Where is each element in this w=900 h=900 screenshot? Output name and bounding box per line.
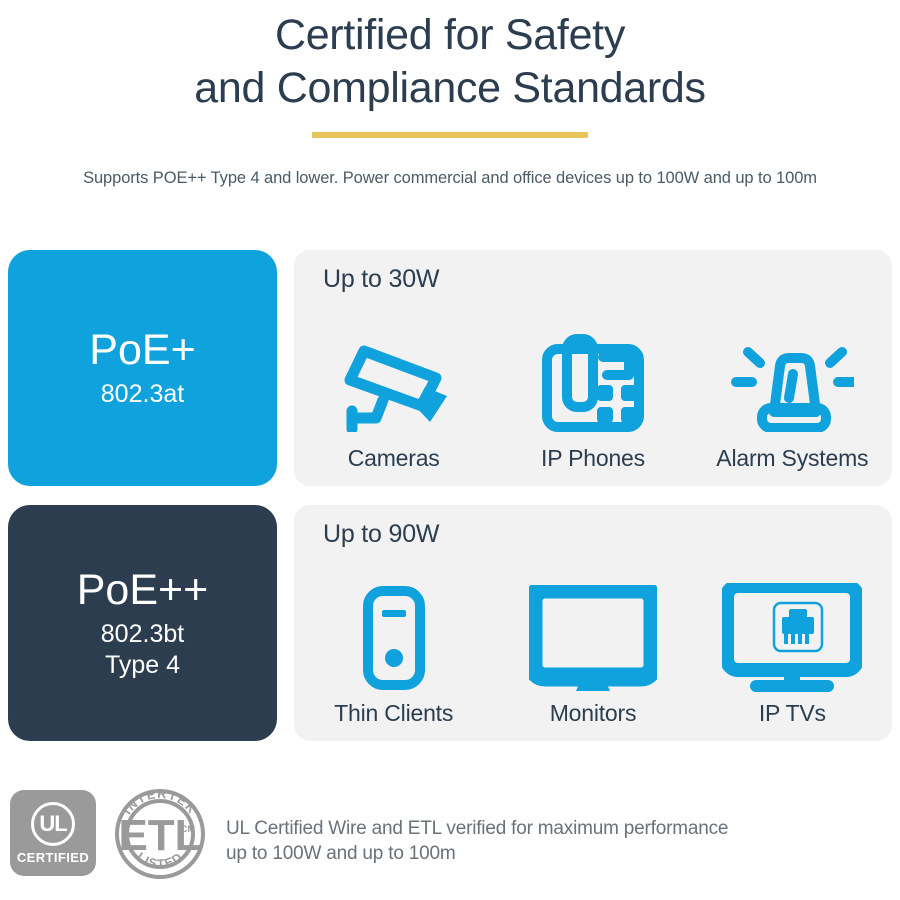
device-label: Monitors [550, 700, 637, 727]
etl-center-text: ETL [118, 811, 201, 860]
ul-mark-icon: UL [31, 802, 75, 846]
thin-client-tower-icon [362, 582, 426, 694]
device-label: Alarm Systems [716, 445, 868, 472]
device-item-ip-tvs: IP TVs [693, 536, 892, 741]
device-label: Thin Clients [334, 700, 453, 727]
device-grid: Thin Clients Monitors [294, 550, 892, 741]
tier-standard-line-1: 802.3bt [101, 619, 184, 650]
page-subtitle: Supports POE++ Type 4 and lower. Power c… [0, 169, 900, 188]
ul-caption: CERTIFIED [17, 850, 89, 865]
monitor-icon [529, 582, 657, 694]
device-grid: Cameras [294, 295, 892, 486]
devices-panel-poe-plus-plus: Up to 90W Thin Clients [294, 505, 892, 741]
etl-listed-badge: INTERTEK LISTED ETL CM [110, 784, 210, 884]
device-label: Cameras [348, 445, 440, 472]
tier-name: PoE++ [77, 566, 209, 614]
tier-standard-line-1: 802.3at [101, 379, 184, 410]
certification-footer: UL CERTIFIED INTERTEK LISTED ETL CM UL C… [10, 790, 890, 884]
device-item-thin-clients: Thin Clients [294, 536, 493, 741]
tier-standard: 802.3bt Type 4 [101, 619, 184, 681]
alarm-beacon-icon [730, 327, 854, 439]
tier-name: PoE+ [89, 326, 195, 374]
device-item-alarm-systems: Alarm Systems [693, 281, 892, 486]
ul-certified-badge: UL CERTIFIED [10, 790, 96, 876]
certification-description-line-1: UL Certified Wire and ETL verified for m… [226, 816, 728, 841]
ip-tv-icon [722, 582, 862, 694]
page-title-line-1: Certified for Safety [0, 9, 900, 62]
tier-standard: 802.3at [101, 379, 184, 410]
device-item-cameras: Cameras [294, 281, 493, 486]
ip-phone-icon [541, 327, 645, 439]
page-title: Certified for Safety and Compliance Stan… [0, 0, 900, 115]
tier-card-poe-plus: PoE+ 802.3at [8, 250, 277, 486]
tier-row-poe-plus-plus: PoE++ 802.3bt Type 4 Up to 90W Thin Clie… [8, 505, 892, 741]
security-camera-icon [336, 327, 452, 439]
rj45-plug-glyph [782, 609, 814, 644]
etl-superscript-text: CM [181, 824, 195, 834]
tier-row-poe-plus: PoE+ 802.3at Up to 30W Camer [8, 250, 892, 486]
tier-standard-line-2: Type 4 [101, 650, 184, 681]
device-label: IP Phones [541, 445, 645, 472]
device-item-monitors: Monitors [493, 536, 692, 741]
page-header: Certified for Safety and Compliance Stan… [0, 0, 900, 188]
device-item-ip-phones: IP Phones [493, 281, 692, 486]
gold-accent-divider [312, 132, 588, 138]
device-label: IP TVs [759, 700, 826, 727]
ul-mark-text: UL [39, 811, 66, 837]
devices-panel-poe-plus: Up to 30W Cameras [294, 250, 892, 486]
tier-card-poe-plus-plus: PoE++ 802.3bt Type 4 [8, 505, 277, 741]
certification-description: UL Certified Wire and ETL verified for m… [226, 816, 728, 866]
certification-description-line-2: up to 100W and up to 100m [226, 841, 728, 866]
page-title-line-2: and Compliance Standards [0, 62, 900, 115]
